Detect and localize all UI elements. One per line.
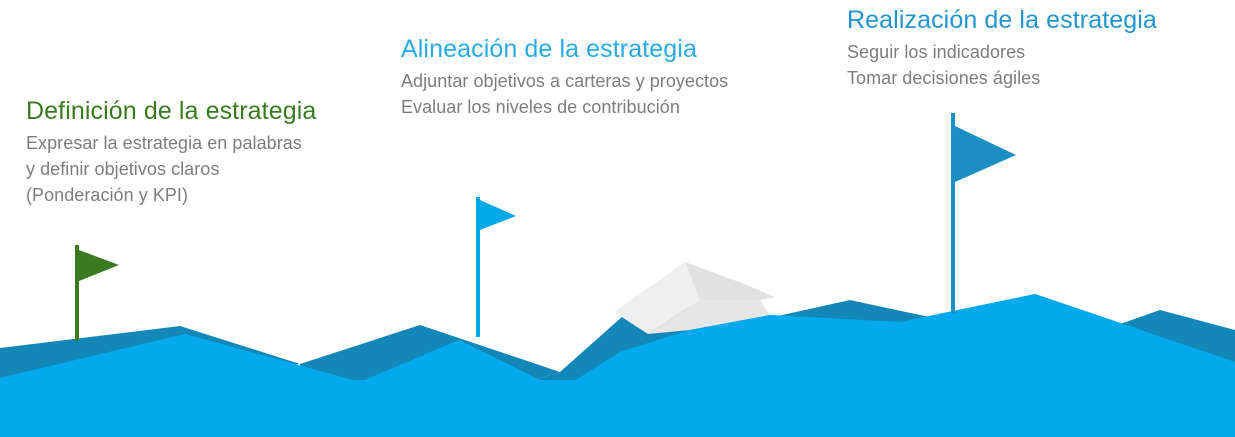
strategy-journey-infographic: Definición de la estrategia Expresar la … [0,0,1235,437]
stage-definicion-title: Definición de la estrategia [26,95,316,127]
snow-cap-shade-facet [685,262,775,300]
flag-cyan-icon [476,197,516,337]
flag-cyan-banner [480,200,516,230]
stage-definicion: Definición de la estrategia Expresar la … [26,95,316,208]
flag-blue-icon [951,113,1016,313]
stage-alineacion-lines: Adjuntar objetivos a carteras y proyecto… [401,68,728,120]
mountain-front-layer [0,294,1235,437]
stage-alineacion: Alineación de la estrategia Adjuntar obj… [401,33,728,120]
stage-definicion-line-1: Expresar la estrategia en palabras [26,130,316,156]
stage-realizacion-title: Realización de la estrategia [847,4,1157,36]
front-base-fill [0,294,1235,437]
stage-alineacion-line-2: Evaluar los niveles de contribución [401,94,728,120]
stage-definicion-line-2: y definir objetivos claros [26,156,316,182]
flag-blue-pole [951,113,955,313]
stage-definicion-line-3: (Ponderación y KPI) [26,182,316,208]
stage-alineacion-title: Alineación de la estrategia [401,33,728,65]
flag-blue-banner [955,126,1016,182]
flag-green-pole [75,245,79,341]
stage-definicion-lines: Expresar la estrategia en palabras y def… [26,130,316,208]
stage-realizacion-line-1: Seguir los indicadores [847,39,1157,65]
stage-realizacion-line-2: Tomar decisiones ágiles [847,65,1157,91]
flag-green-icon [75,245,119,341]
stage-realizacion: Realización de la estrategia Seguir los … [847,4,1157,91]
flag-cyan-pole [476,197,480,337]
stage-realizacion-lines: Seguir los indicadores Tomar decisiones … [847,39,1157,91]
flag-green-banner [79,250,119,281]
stage-alineacion-line-1: Adjuntar objetivos a carteras y proyecto… [401,68,728,94]
